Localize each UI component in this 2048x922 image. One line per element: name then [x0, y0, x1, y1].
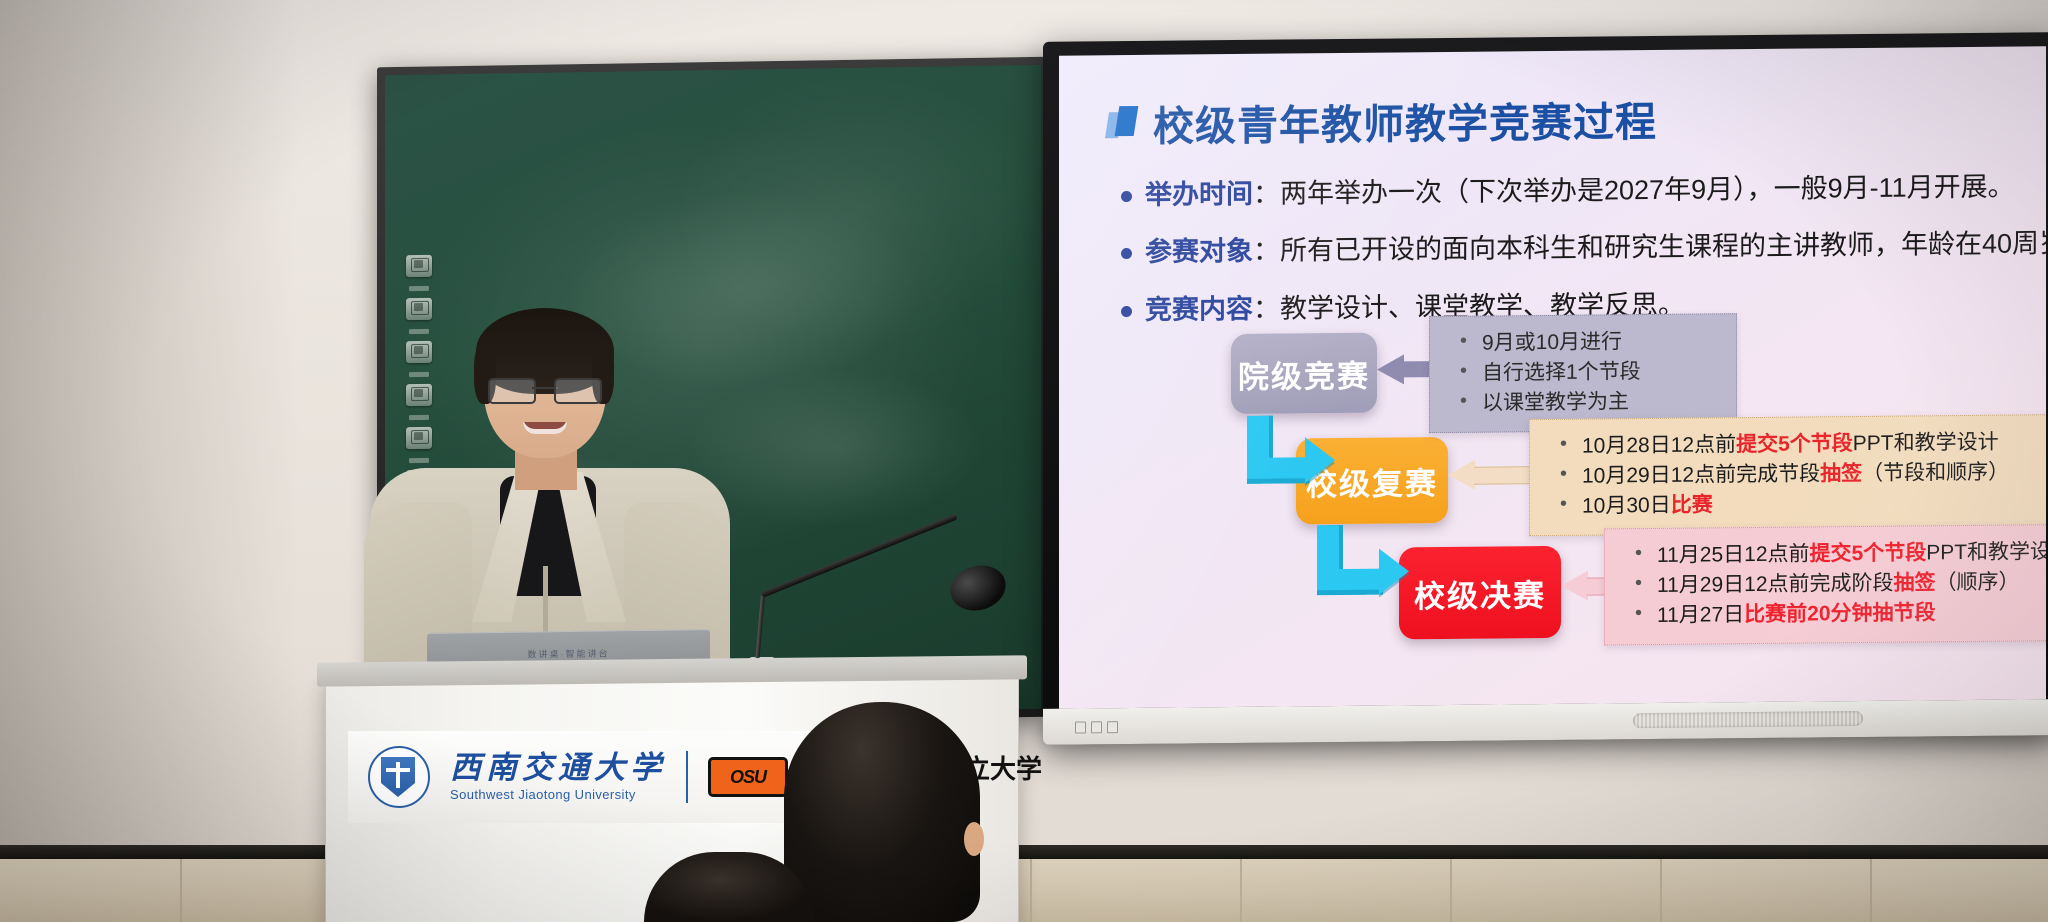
bezel-power-icon[interactable] — [1075, 721, 1086, 733]
bullet-separator: ： — [1253, 293, 1280, 323]
callout-item: 10月28日12点前提交5个节段PPT和教学设计 — [1556, 426, 2046, 462]
control-button-screen-icon[interactable] — [406, 255, 432, 277]
audience-ear — [964, 822, 984, 856]
bullet-dot-icon — [1121, 191, 1132, 202]
wainscot-panelling — [0, 859, 2048, 922]
callout-item: 11月25日12点前提交5个节段PPT和教学设计 — [1631, 536, 2046, 571]
callout-box-final: 11月25日12点前提交5个节段PPT和教学设计 11月29日12点前完成阶段抽… — [1604, 523, 2046, 646]
callout-arrow-2 — [1448, 459, 1538, 490]
slide-title: 校级青年教师教学竞赛过程 — [1153, 88, 1657, 153]
osu-mark-icon: OSU — [708, 757, 788, 797]
audience-hair — [644, 852, 814, 922]
bullet-label: 举办时间 — [1145, 179, 1253, 210]
sjtu-crest-icon — [368, 746, 430, 808]
callout-item: 以课堂教学为主 — [1456, 386, 1716, 418]
presenter-glasses — [488, 378, 602, 400]
flow-node-final: 校级决赛 — [1399, 546, 1561, 640]
screenshot-root: 校级青年教师教学竞赛过程 举办时间：两年举办一次（下次举办是2027年9月），一… — [0, 0, 2048, 922]
bezel-input-icon[interactable] — [1091, 721, 1102, 733]
bullet-dot-icon — [1121, 306, 1132, 317]
bullet-item: 参赛对象：所有已开设的面向本科生和研究生课程的主讲教师，年龄在40周岁(含)以下 — [1121, 227, 2046, 269]
speaker-grille — [1633, 711, 1863, 728]
bullet-item: 举办时间：两年举办一次（下次举办是2027年9月），一般9月-11月开展。 — [1121, 170, 2046, 212]
bullet-label: 参赛对象 — [1145, 236, 1253, 267]
bullet-text: 所有已开设的面向本科生和研究生课程的主讲教师，年龄在40周岁(含)以下 — [1280, 227, 2046, 265]
callout-arrow-1 — [1377, 354, 1437, 385]
bullet-text: 两年举办一次（下次举办是2027年9月），一般9月-11月开展。 — [1280, 172, 2015, 209]
bullet-label: 竞赛内容 — [1145, 294, 1253, 325]
bullet-dot-icon — [1121, 248, 1132, 259]
audience-member-lower — [644, 852, 814, 922]
flow-node-school-level: 院级竞赛 — [1231, 333, 1377, 414]
process-flowchart: 院级竞赛 校级复赛 校级决赛 9月或10月进行 — [1059, 326, 2046, 709]
callout-item: 自行选择1个节段 — [1456, 356, 1716, 388]
bullet-separator: ： — [1253, 236, 1280, 266]
presenter-mouth — [523, 422, 567, 434]
wall-shadow-left — [0, 0, 300, 872]
callout-box-school-level: 9月或10月进行 自行选择1个节段 以课堂教学为主 — [1429, 313, 1737, 433]
connector-arrow-2 — [1317, 524, 1417, 595]
sjtu-wordmark: 西南交通大学 Southwest Jiaotong University — [450, 752, 666, 802]
callout-item: 11月27日比赛前20分钟抽节段 — [1631, 595, 2046, 630]
callout-item: 10月29日12点前完成节段抽签（节段和顺序） — [1556, 456, 2046, 492]
sjtu-name-en: Southwest Jiaotong University — [450, 787, 666, 802]
title-marker-icon — [1107, 106, 1137, 140]
callout-item: 11月29日12点前完成阶段抽签（顺序） — [1631, 566, 2046, 601]
bullet-separator: ： — [1253, 179, 1280, 209]
presentation-slide: 校级青年教师教学竞赛过程 举办时间：两年举办一次（下次举办是2027年9月），一… — [1059, 46, 2046, 708]
display-screen[interactable]: 校级青年教师教学竞赛过程 举办时间：两年举办一次（下次举办是2027年9月），一… — [1059, 46, 2046, 708]
connector-arrow-1 — [1247, 415, 1339, 484]
interactive-display[interactable]: 校级青年教师教学竞赛过程 举办时间：两年举办一次（下次举办是2027年9月），一… — [1043, 32, 2048, 745]
callout-box-semifinal: 10月28日12点前提交5个节段PPT和教学设计 10月29日12点前完成节段抽… — [1529, 413, 2046, 537]
wall-trim — [0, 845, 2048, 859]
callout-item: 10月30日比赛 — [1556, 486, 2046, 522]
logo-divider — [686, 751, 688, 803]
callout-item: 9月或10月进行 — [1456, 326, 1716, 358]
slide-title-row: 校级青年教师教学竞赛过程 — [1107, 88, 1657, 153]
bezel-menu-icon[interactable] — [1107, 721, 1118, 733]
bezel-button-group[interactable] — [1075, 721, 1118, 733]
sjtu-name-cn: 西南交通大学 — [450, 752, 666, 783]
